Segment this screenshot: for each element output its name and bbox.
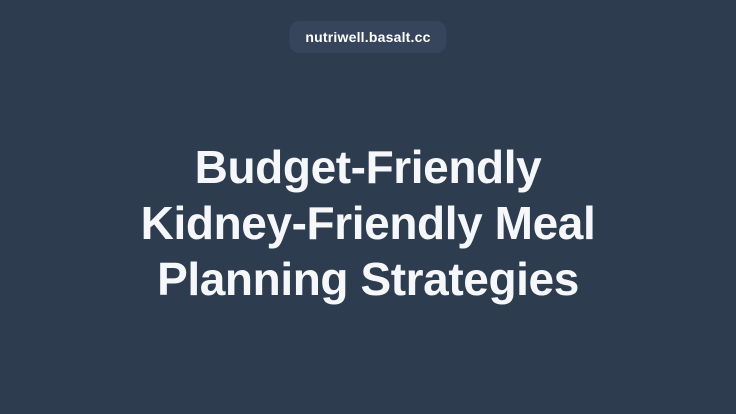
site-url-badge: nutriwell.basalt.cc [289, 21, 446, 53]
page-title-line-2: Kidney-Friendly Meal [40, 195, 696, 251]
title-slide: nutriwell.basalt.cc Budget-Friendly Kidn… [0, 0, 736, 414]
page-title-line-1: Budget-Friendly [40, 139, 696, 195]
site-url-badge-label: nutriwell.basalt.cc [305, 30, 430, 44]
page-title-line-3: Planning Strategies [40, 251, 696, 307]
page-title: Budget-Friendly Kidney-Friendly Meal Pla… [0, 139, 736, 307]
